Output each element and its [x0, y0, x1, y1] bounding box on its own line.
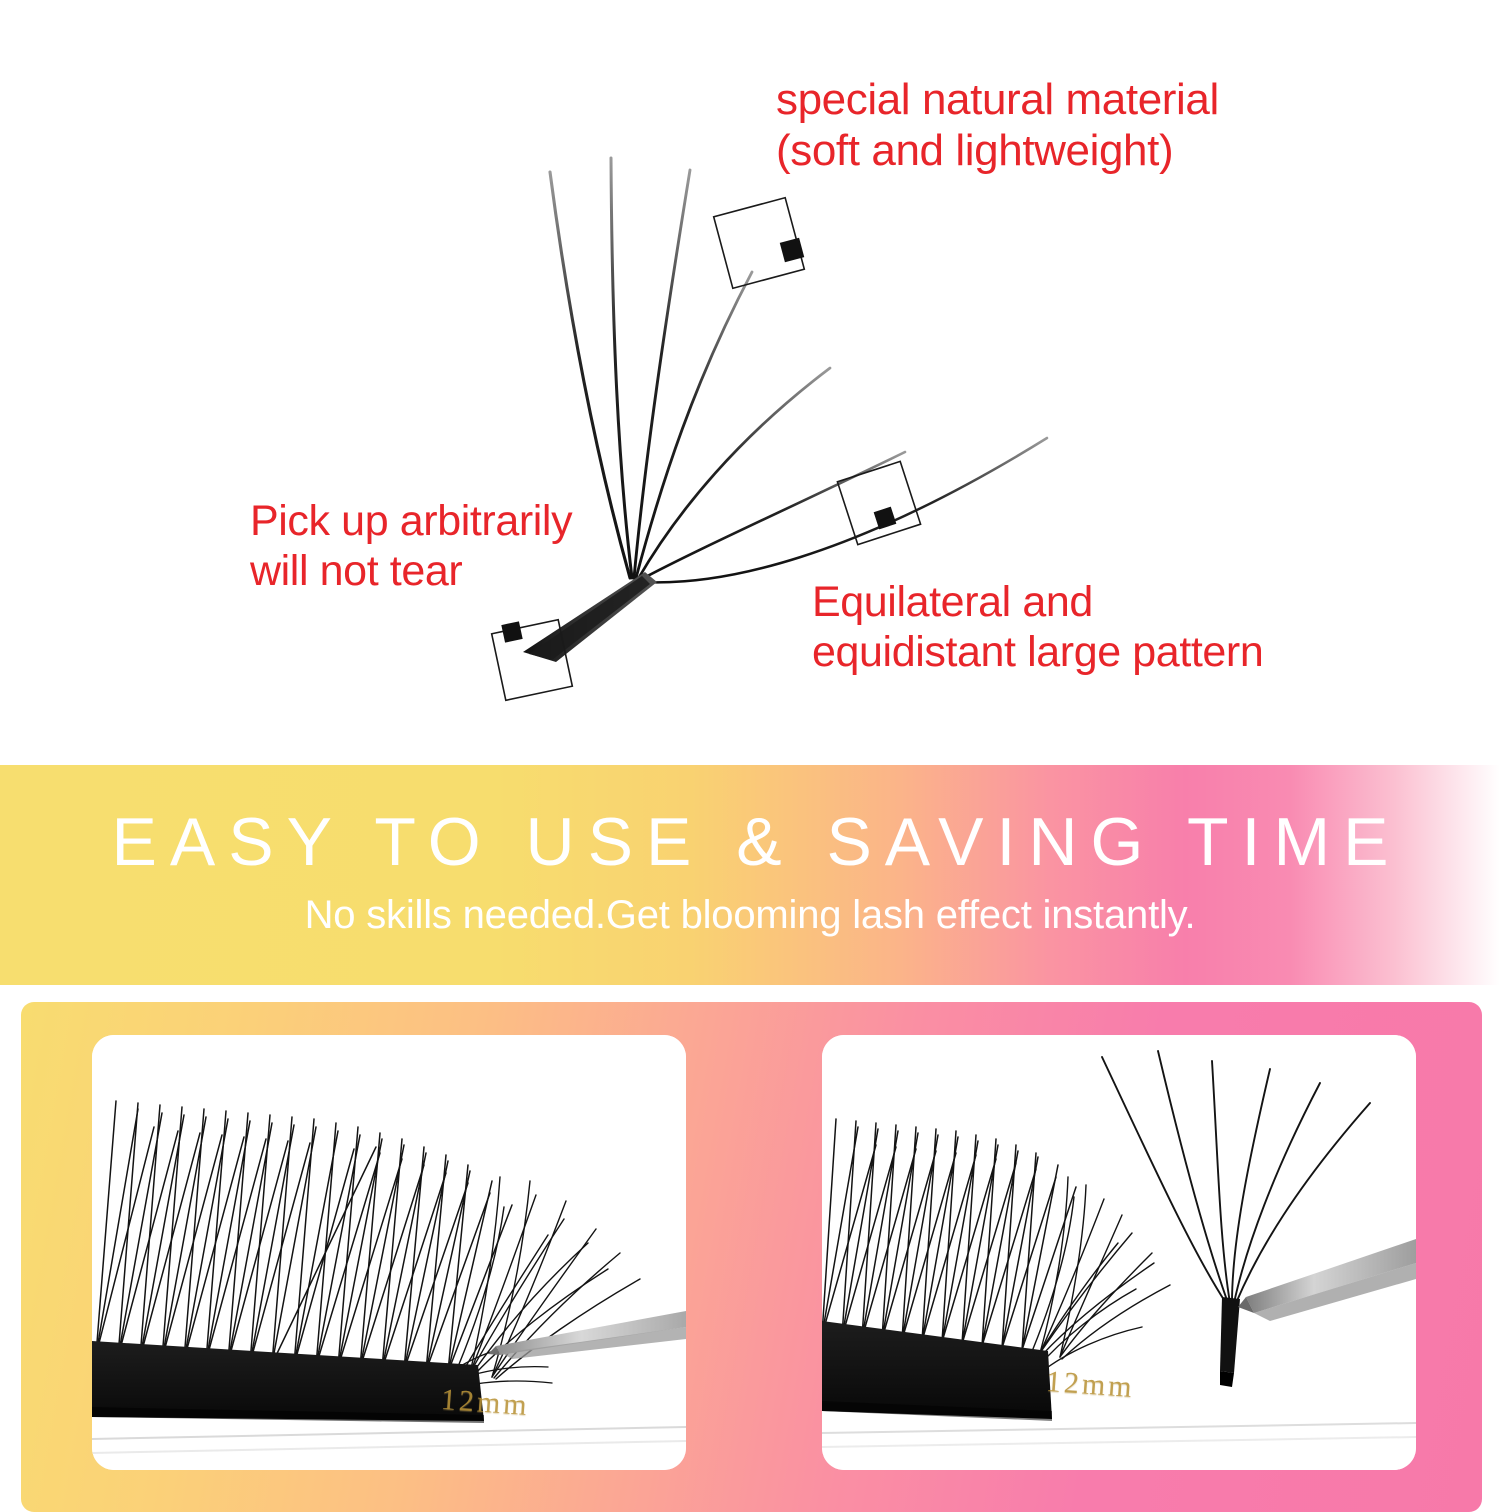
photo-card-lash-tray-with-tweezers: 12mm — [92, 1035, 686, 1470]
annotation-pick-up-arbitrarily: Pick up arbitrarily will not tear — [250, 497, 572, 597]
size-label-12mm-right: 12mm — [1045, 1365, 1136, 1405]
annotation-equilateral-equidistant: Equilateral and equidistant large patter… — [812, 578, 1263, 678]
easy-to-use-banner: EASY TO USE & SAVING TIME No skills need… — [0, 765, 1500, 985]
banner-title: EASY TO USE & SAVING TIME — [0, 803, 1500, 881]
lash-fibers — [550, 158, 1047, 582]
photo-card-lash-fan-lifted: 12mm — [822, 1035, 1416, 1470]
callout-marker-right — [837, 461, 920, 544]
annotation-special-natural-material: special natural material (soft and light… — [776, 74, 1219, 176]
lash-fan-diagram — [0, 0, 1500, 765]
size-label-12mm-left: 12mm — [440, 1383, 531, 1423]
callout-marker-top — [714, 198, 805, 289]
product-feature-diagram-section: special natural material (soft and light… — [0, 0, 1500, 765]
callout-marker-base — [492, 620, 573, 701]
banner-subtitle: No skills needed.Get blooming lash effec… — [0, 893, 1500, 938]
lash-tray-photo — [92, 1035, 686, 1470]
lash-fan-lifted-photo — [822, 1035, 1416, 1470]
product-photo-panel: 12mm — [21, 1002, 1482, 1512]
